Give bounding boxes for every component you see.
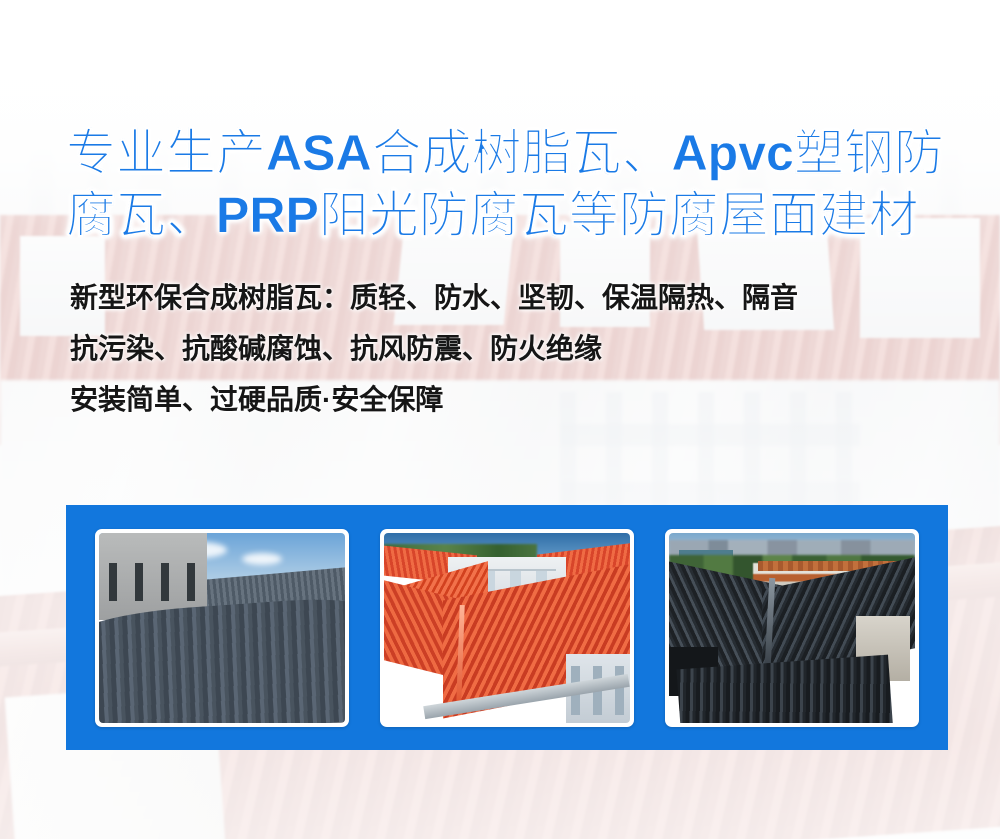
headline-line-2: 腐瓦、PRP阳光防腐瓦等防腐屋面建材 <box>66 184 946 246</box>
gallery-thumbnail-2[interactable] <box>380 529 634 727</box>
photo1-main-tile-roof <box>99 594 345 722</box>
photo1-wall-windows <box>109 563 198 601</box>
red-resin-tile-roof-photo <box>384 533 630 723</box>
black-resin-tile-roof-photo <box>669 533 915 723</box>
gallery-thumbnail-3[interactable] <box>665 529 919 727</box>
product-gallery-panel <box>66 505 948 750</box>
feature-list: 新型环保合成树脂瓦：质轻、防水、坚韧、保温隔热、隔音 抗污染、抗酸碱腐蚀、抗风防… <box>70 272 960 425</box>
product-promo-banner: 专业生产ASA合成树脂瓦、Apvc塑钢防 腐瓦、PRP阳光防腐瓦等防腐屋面建材 … <box>0 0 1000 839</box>
feature-line-3: 安装简单、过硬品质·安全保障 <box>70 374 960 425</box>
gallery-thumbnail-1[interactable] <box>95 529 349 727</box>
feature-line-2: 抗污染、抗酸碱腐蚀、抗风防震、防火绝缘 <box>70 323 960 374</box>
headline-line-1: 专业生产ASA合成树脂瓦、Apvc塑钢防 <box>66 122 946 184</box>
feature-line-1: 新型环保合成树脂瓦：质轻、防水、坚韧、保温隔热、隔音 <box>70 272 960 323</box>
gray-resin-tile-roof-photo <box>99 533 345 723</box>
page-title: 专业生产ASA合成树脂瓦、Apvc塑钢防 腐瓦、PRP阳光防腐瓦等防腐屋面建材 <box>66 122 946 246</box>
